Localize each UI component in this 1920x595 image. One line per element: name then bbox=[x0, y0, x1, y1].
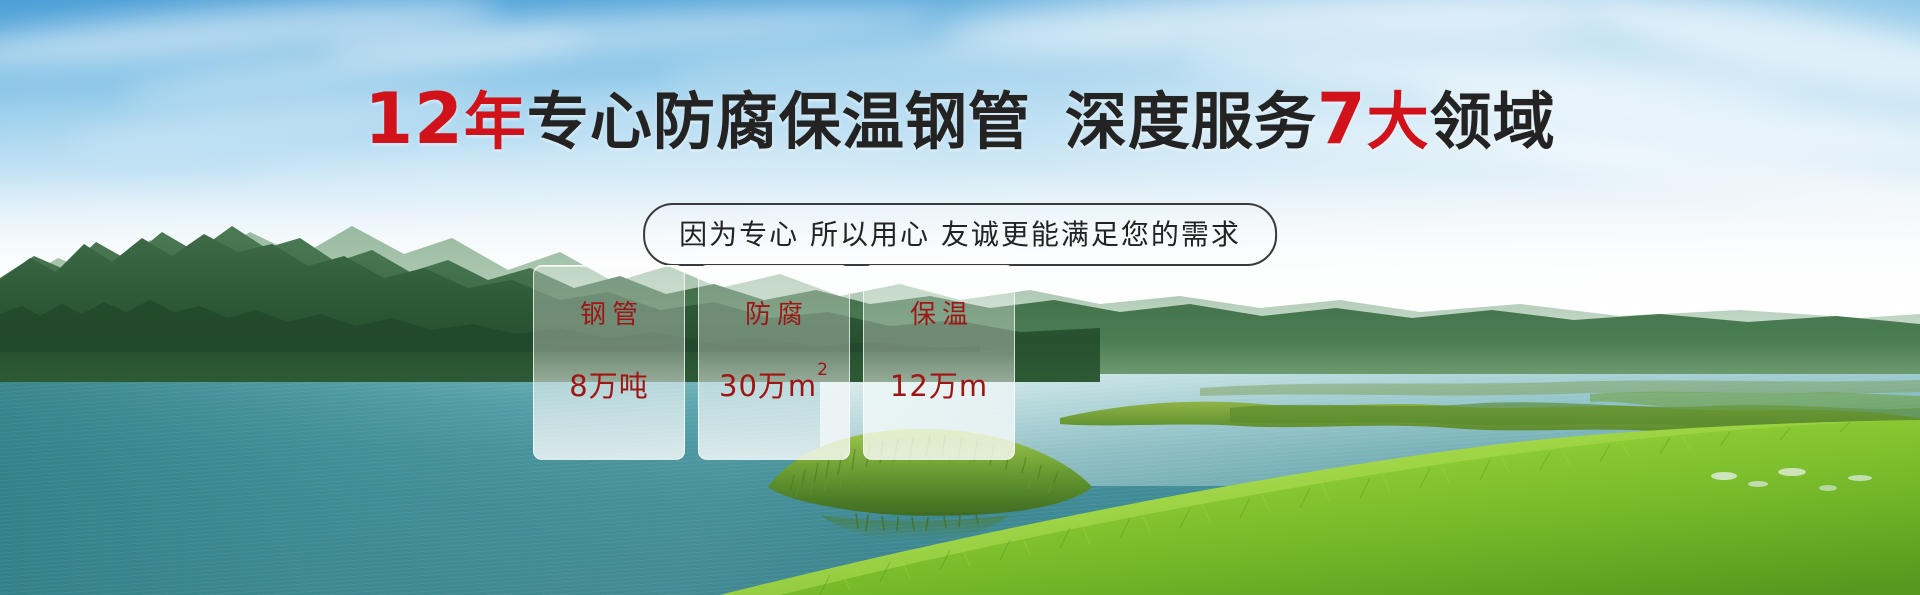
headline-service-text: 深度服务 bbox=[1065, 85, 1317, 158]
headline-years-unit: 年 bbox=[464, 85, 527, 158]
stat-card-group: 钢管 8万吨 防腐 30万m2 保温 12万m bbox=[533, 265, 1015, 460]
stat-divider bbox=[885, 348, 993, 349]
stat-value-text: 30万m bbox=[719, 369, 817, 403]
stat-card-insulation: 保温 12万m bbox=[863, 265, 1015, 460]
headline-main-text: 专心防腐保温钢管 bbox=[527, 85, 1031, 158]
stat-label: 钢管 bbox=[574, 294, 644, 331]
water-foam-specks bbox=[1700, 462, 1900, 502]
stat-card-steel-pipe: 钢管 8万吨 bbox=[533, 265, 685, 460]
subtitle-pill: 因为专心 所以用心 友诚更能满足您的需求 bbox=[643, 203, 1277, 266]
headline-fields-number: 7 bbox=[1317, 78, 1367, 160]
stat-card-anticorrosion: 防腐 30万m2 bbox=[698, 265, 850, 460]
far-shore-line bbox=[1200, 372, 1920, 396]
hero-banner: 12年专心防腐保温钢管深度服务7大领域 因为专心 所以用心 友诚更能满足您的需求… bbox=[0, 0, 1920, 595]
headline-fields-unit: 大 bbox=[1367, 85, 1430, 158]
stat-label: 防腐 bbox=[739, 294, 809, 331]
headline-fields-tail: 领域 bbox=[1430, 85, 1556, 158]
headline-years-number: 12 bbox=[364, 78, 463, 160]
stat-value-text: 8万吨 bbox=[569, 369, 648, 403]
stat-value: 12万m bbox=[890, 363, 988, 405]
stat-divider bbox=[555, 348, 663, 349]
stat-value-text: 12万m bbox=[890, 369, 988, 403]
headline: 12年专心防腐保温钢管深度服务7大领域 bbox=[0, 84, 1920, 154]
stat-value: 30万m2 bbox=[719, 363, 829, 405]
stat-value-superscript: 2 bbox=[817, 360, 829, 380]
stat-label: 保温 bbox=[904, 294, 974, 331]
stat-value: 8万吨 bbox=[569, 363, 648, 405]
stat-divider bbox=[720, 348, 828, 349]
